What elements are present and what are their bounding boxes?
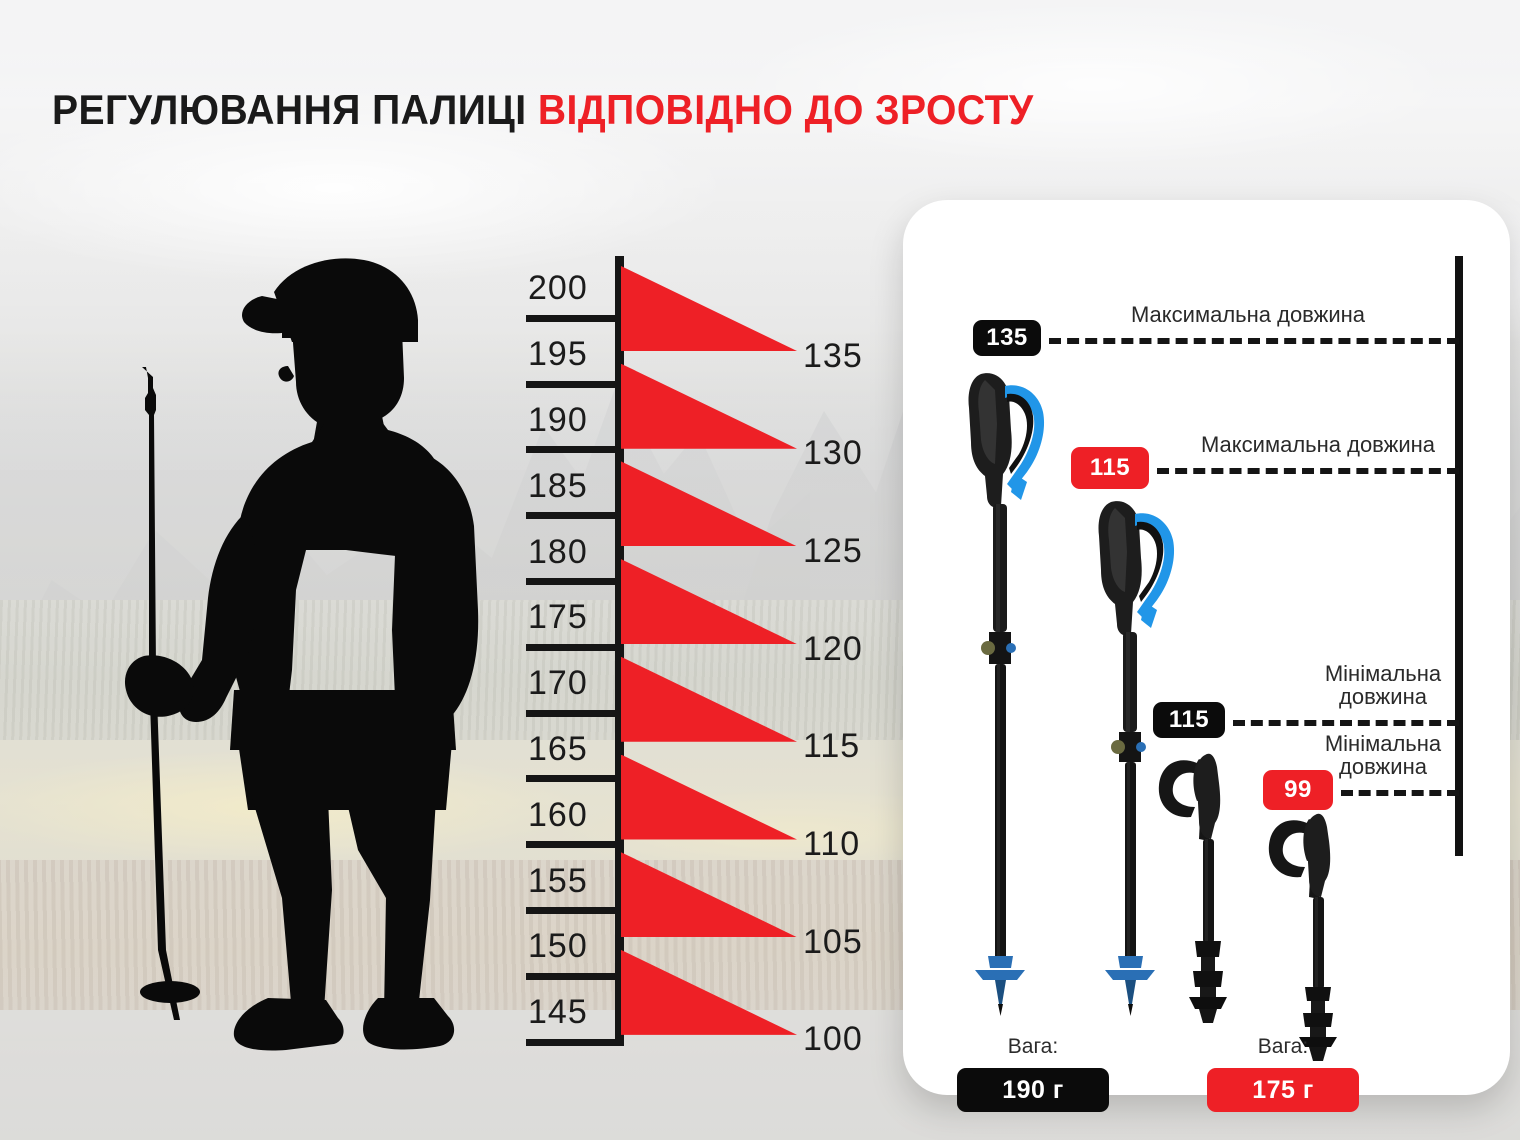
measurement-caption: Максимальна довжина (1183, 434, 1453, 456)
pole-length-wedge (621, 755, 797, 840)
height-scale-row: 170 (512, 651, 615, 717)
height-scale-tick (526, 1039, 615, 1046)
height-value: 170 (512, 664, 588, 703)
measurement-badge: 115 (1153, 702, 1225, 738)
height-scale-row: 190 (512, 388, 615, 454)
height-scale-row: 175 (512, 585, 615, 651)
pole-length-row: 135 (621, 262, 921, 360)
weight-label: Вага: (943, 1035, 1123, 1059)
infographic-canvas: РЕГУЛЮВАННЯ ПАЛИЦІ ВІДПОВІДНО ДО ЗРОСТУ (0, 0, 1520, 1140)
height-value: 175 (512, 598, 588, 637)
height-value: 180 (512, 533, 588, 572)
height-scale-tick (526, 841, 615, 848)
pole-length-wedge (621, 364, 797, 449)
pole-length-wedge (621, 852, 797, 937)
page-title-red: ВІДПОВІДНО ДО ЗРОСТУ (538, 86, 1034, 133)
height-scale-tick (526, 775, 615, 782)
height-value: 145 (512, 993, 588, 1032)
page-title-black: РЕГУЛЮВАННЯ ПАЛИЦІ (52, 86, 527, 133)
measurement-badge: 115 (1071, 447, 1149, 489)
height-value: 185 (512, 467, 588, 506)
height-scale-row: 200 (512, 256, 615, 322)
height-value: 190 (512, 401, 588, 440)
height-scale-tick (526, 446, 615, 453)
height-scale-tick (526, 381, 615, 388)
height-value: 150 (512, 927, 588, 966)
dash-segment (1341, 790, 1459, 796)
pole-length-row: 110 (621, 751, 921, 849)
height-scale-tick (526, 710, 615, 717)
height-scale-row: 160 (512, 782, 615, 848)
pole-collapsed-large (1153, 745, 1253, 1027)
height-scale-tick (526, 512, 615, 519)
pole-length-row: 100 (621, 946, 921, 1044)
product-comparison-card: 135Максимальна довжина115Максимальна дов… (903, 200, 1510, 1095)
height-scale-row: 165 (512, 717, 615, 783)
height-scale-row: 155 (512, 848, 615, 914)
dash-segment (1049, 338, 1459, 344)
height-scale-tick (526, 315, 615, 322)
weight-value-badge: 175 г (1207, 1068, 1359, 1112)
height-scale: 200195190185180175170165160155150145 (512, 256, 624, 1046)
measurement-badge: 135 (973, 320, 1041, 356)
height-value: 200 (512, 269, 588, 308)
pole-extended-large (955, 364, 1065, 1024)
pole-length-row: 115 (621, 653, 921, 751)
pole-length-row: 120 (621, 555, 921, 653)
weight-block-small: Вага: 175 г (1193, 1035, 1373, 1112)
dash-segment (1233, 720, 1459, 726)
pole-length-wedge (621, 559, 797, 644)
pole-collapsed-small (1263, 805, 1363, 1067)
pole-length-value: 100 (803, 1020, 863, 1059)
height-scale-row: 195 (512, 322, 615, 388)
height-value: 165 (512, 730, 588, 769)
pole-length-row: 130 (621, 360, 921, 458)
pole-length-wedge (621, 266, 797, 351)
height-scale-tick (526, 907, 615, 914)
weight-label: Вага: (1193, 1035, 1373, 1059)
dash-segment (1157, 468, 1459, 474)
height-scale-row: 150 (512, 914, 615, 980)
height-scale-row: 185 (512, 453, 615, 519)
pole-length-scale: 135130125120115110105100 (621, 262, 921, 1044)
pole-length-wedge (621, 950, 797, 1035)
height-scale-tick (526, 578, 615, 585)
weight-value-badge: 190 г (957, 1068, 1109, 1112)
pole-length-row: 105 (621, 848, 921, 946)
height-value: 160 (512, 796, 588, 835)
height-scale-tick (526, 644, 615, 651)
measurement-caption: Максимальна довжина (1103, 304, 1393, 326)
height-scale-tick (526, 973, 615, 980)
hiker-silhouette (96, 250, 516, 1080)
weight-block-large: Вага: 190 г (943, 1035, 1123, 1112)
page-title: РЕГУЛЮВАННЯ ПАЛИЦІ ВІДПОВІДНО ДО ЗРОСТУ (52, 86, 1034, 134)
measurement-caption: Мінімальна довжина (1303, 733, 1463, 778)
pole-length-wedge (621, 657, 797, 742)
measurement-caption: Мінімальна довжина (1303, 663, 1463, 708)
height-value: 195 (512, 335, 588, 374)
pole-length-row: 125 (621, 457, 921, 555)
height-scale-row: 180 (512, 519, 615, 585)
height-value: 155 (512, 862, 588, 901)
pole-length-wedge (621, 461, 797, 546)
height-scale-row: 145 (512, 980, 615, 1046)
